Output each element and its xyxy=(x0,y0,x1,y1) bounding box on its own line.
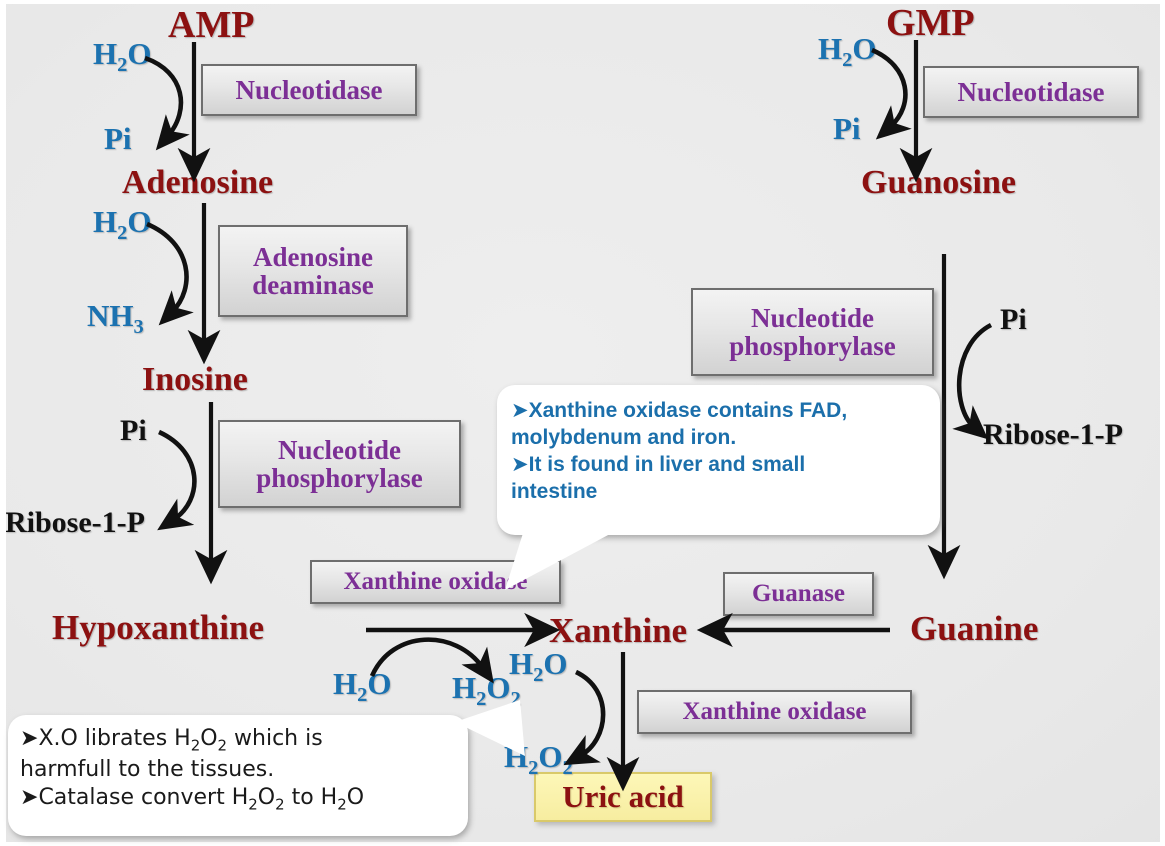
label-h2o2-xanthine: H2O2 xyxy=(504,741,573,779)
peroxide-sub-5: 2 xyxy=(337,796,347,814)
enzyme-label-nucleotide-phosphorylase-left-line1: Nucleotide xyxy=(278,436,401,464)
metabolite-guanine: Guanine xyxy=(910,611,1038,646)
peroxide-bullet-1: ➤ xyxy=(20,726,38,751)
enzyme-label-nucleotide-phosphorylase-right-line1: Nucleotide xyxy=(751,304,874,332)
curve-h2o-to-nh3-adenosine xyxy=(147,224,187,312)
label-pi-guanosine: Pi xyxy=(1000,305,1027,335)
curve-h2o-to-h2o2-xanthine xyxy=(576,672,603,756)
callout-xanthine-oxidase-note: ➤Xanthine oxidase contains FAD, molybden… xyxy=(497,385,940,535)
enzyme-box-nucleotidase-amp: Nucleotidase xyxy=(201,64,417,116)
curve-pi-to-ribose1p-right xyxy=(959,325,991,427)
uric-acid-label: Uric acid xyxy=(562,779,683,815)
curve-pi-to-ribose1p-left xyxy=(159,432,194,520)
enzyme-box-xanthine-oxidase-right: Xanthine oxidase xyxy=(637,690,912,734)
callout-line-1: ➤Xanthine oxidase contains FAD, xyxy=(511,397,926,425)
metabolite-guanosine: Guanosine xyxy=(861,166,1016,200)
metabolite-amp: AMP xyxy=(168,6,255,44)
label-h2o-adenosine: H2O xyxy=(93,206,151,244)
enzyme-label-adenosine-deaminase-line2: deaminase xyxy=(252,271,374,299)
label-ribose1p-right: Ribose-1-P xyxy=(983,420,1123,450)
metabolite-inosine: Inosine xyxy=(142,363,248,397)
label-pi-amp: Pi xyxy=(104,123,132,154)
peroxide-text-1a: X.O librates H xyxy=(38,726,190,751)
enzyme-label-nucleotidase-gmp: Nucleotidase xyxy=(958,78,1105,106)
callout-line-4: intestine xyxy=(511,479,926,506)
peroxide-line-1: ➤X.O librates H2O2 which is xyxy=(20,725,454,756)
enzyme-label-nucleotide-phosphorylase-right-line2: phosphorylase xyxy=(729,332,896,360)
curve-h2o-to-pi-gmp xyxy=(872,50,905,127)
page-edge-left xyxy=(0,0,6,846)
callout-peroxide-note: ➤X.O librates H2O2 which is harmfull to … xyxy=(8,715,468,836)
page-edge-top xyxy=(0,0,1165,4)
enzyme-box-xanthine-oxidase-left: Xanthine oxidase xyxy=(310,560,561,604)
callout-line-2: molybdenum and iron. xyxy=(511,425,926,452)
diagram-canvas: AMP Adenosine Inosine Hypoxanthine Xanth… xyxy=(0,0,1165,846)
page-edge-right xyxy=(1160,0,1165,846)
label-h2o-hypoxanthine: H2O xyxy=(333,668,391,706)
label-h2o-xanthine: H2O xyxy=(509,648,567,686)
metabolite-adenosine: Adenosine xyxy=(122,166,273,200)
metabolite-hypoxanthine: Hypoxanthine xyxy=(52,610,264,645)
peroxide-bullet-2: ➤ xyxy=(20,785,38,810)
metabolite-gmp: GMP xyxy=(886,4,975,42)
enzyme-box-nucleotide-phosphorylase-right: Nucleotide phosphorylase xyxy=(691,288,934,376)
page-edge-bottom xyxy=(0,842,1165,846)
peroxide-sub-4: 2 xyxy=(275,796,285,814)
peroxide-line-2: harmfull to the tissues. xyxy=(20,756,454,785)
peroxide-sub-1: 2 xyxy=(191,736,201,754)
metabolite-xanthine: Xanthine xyxy=(549,613,687,648)
callout-line-3: ➤It is found in liver and small xyxy=(511,451,926,479)
callout-text-1: Xanthine oxidase contains FAD, xyxy=(529,399,848,422)
peroxide-sub-2: 2 xyxy=(218,736,228,754)
enzyme-label-nucleotidase-amp: Nucleotidase xyxy=(236,76,383,104)
enzyme-label-nucleotide-phosphorylase-left-line2: phosphorylase xyxy=(256,464,423,492)
enzyme-box-guanase: Guanase xyxy=(723,572,874,616)
peroxide-text-1c: which is xyxy=(227,726,323,751)
callout-bullet-1: ➤ xyxy=(511,398,529,422)
enzyme-label-xanthine-oxidase-right: Xanthine oxidase xyxy=(682,699,866,725)
label-h2o-gmp: H2O xyxy=(818,33,876,71)
label-pi-inosine: Pi xyxy=(120,416,147,446)
peroxide-sub-3: 2 xyxy=(248,796,258,814)
peroxide-text-1b: O xyxy=(200,726,217,751)
label-pi-gmp: Pi xyxy=(833,113,861,144)
uric-acid-box: Uric acid xyxy=(534,772,712,822)
peroxide-text-3b: O xyxy=(258,785,275,810)
peroxide-line-3: ➤Catalase convert H2O2 to H2O xyxy=(20,784,454,815)
callout-bullet-2: ➤ xyxy=(511,452,529,476)
label-h2o-amp: H2O xyxy=(93,38,151,76)
enzyme-box-adenosine-deaminase: Adenosine deaminase xyxy=(218,225,408,317)
label-ribose1p-left: Ribose-1-P xyxy=(5,508,145,538)
label-nh3-adenosine: NH3 xyxy=(87,300,144,338)
peroxide-text-3c: to H xyxy=(285,785,338,810)
enzyme-label-adenosine-deaminase-line1: Adenosine xyxy=(253,243,373,271)
enzyme-label-xanthine-oxidase-left: Xanthine oxidase xyxy=(343,569,527,595)
enzyme-label-guanase: Guanase xyxy=(752,581,845,607)
callout-text-3: It is found in liver and small xyxy=(529,453,806,476)
peroxide-text-3a: Catalase convert H xyxy=(38,785,248,810)
enzyme-box-nucleotide-phosphorylase-left: Nucleotide phosphorylase xyxy=(218,420,461,508)
enzyme-box-nucleotidase-gmp: Nucleotidase xyxy=(923,66,1139,118)
peroxide-text-3d: O xyxy=(347,785,364,810)
